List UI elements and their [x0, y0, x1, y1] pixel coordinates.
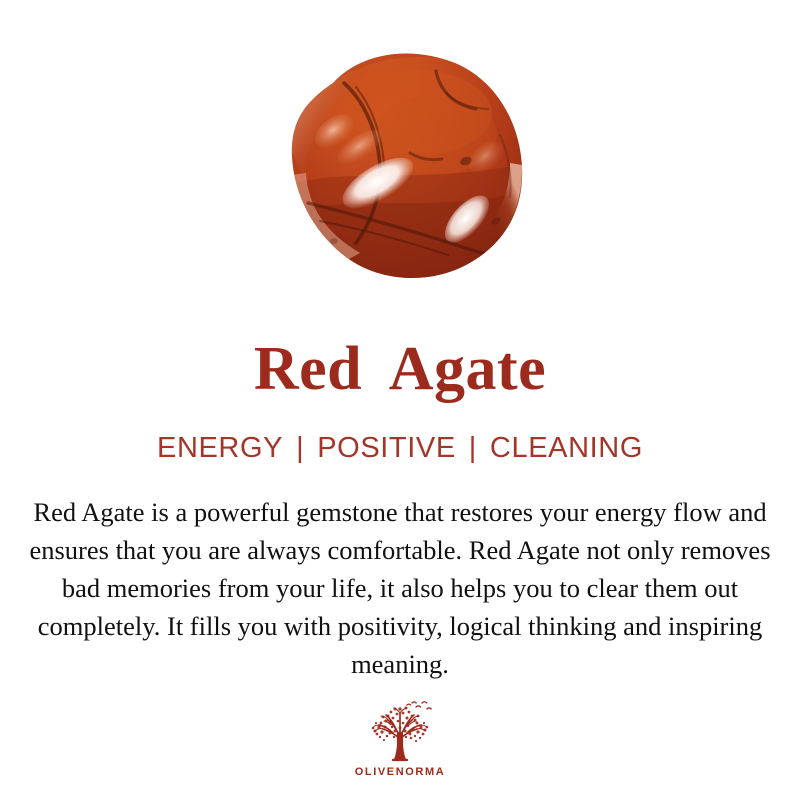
keyword-positive: POSITIVE: [317, 434, 456, 463]
page-title: Red Agate: [254, 338, 546, 400]
description-text: Red Agate is a powerful gemstone that re…: [22, 493, 778, 683]
keyword-separator: |: [469, 434, 477, 463]
red-agate-info-card: Red Agate ENERGY | POSITIVE | CLEANING R…: [0, 0, 800, 800]
keyword-energy: ENERGY: [157, 434, 283, 463]
product-image-container: [0, 0, 800, 320]
brand-wordmark: OLIVENORMA: [355, 766, 446, 778]
brand-logo: OLIVENORMA: [355, 699, 446, 778]
keyword-cleaning: CLEANING: [490, 434, 643, 463]
stone-surface-detail: [290, 57, 528, 285]
tree-of-life-icon: [363, 699, 437, 765]
keyword-separator: |: [296, 434, 304, 463]
keyword-list: ENERGY | POSITIVE | CLEANING: [157, 434, 643, 463]
red-agate-tumbled-stone-icon: [260, 35, 540, 285]
